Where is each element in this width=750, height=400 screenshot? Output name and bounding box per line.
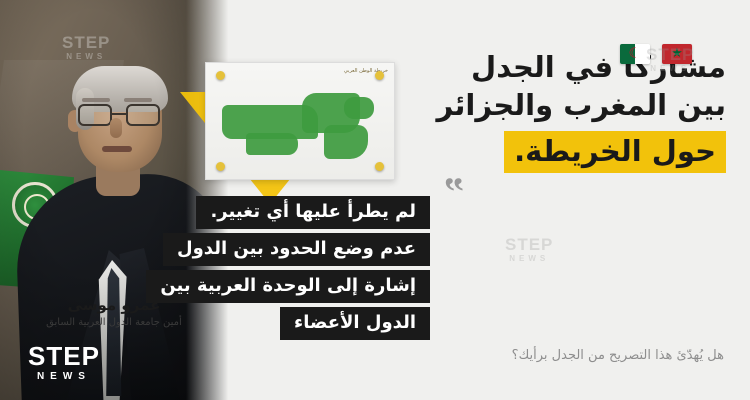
watermark-logo: STEP NEWS <box>646 46 694 73</box>
speaker-title: أمين جامعة الدول العربية السابق <box>14 317 214 328</box>
pushpin-icon <box>216 71 225 80</box>
watermark-brand: STEP <box>62 34 110 51</box>
map-landmass <box>324 125 368 159</box>
headline-line-2: بين المغرب والجزائر <box>366 86 726 124</box>
step-news-logo: STEP NEWS <box>28 343 100 382</box>
logo-sub: NEWS <box>28 372 100 382</box>
watermark-sub: NEWS <box>62 53 110 61</box>
quote-line: لم يطرأ عليها أي تغيير. <box>196 196 430 229</box>
map-landmass <box>246 133 298 155</box>
watermark-brand: STEP <box>646 46 694 63</box>
watermark-sub: NEWS <box>646 65 694 73</box>
quotation-mark-icon: ” <box>444 172 464 212</box>
headline-line-3: حول الخريطة. <box>504 131 726 173</box>
watermark-brand: STEP <box>505 236 553 253</box>
speaker-name: عمرو موسى <box>14 296 214 314</box>
image-canvas: خريطة الوطن العربي مشاركاً في الجدل بين … <box>0 0 750 400</box>
speaker-caption: عمرو موسى أمين جامعة الدول العربية الساب… <box>14 296 214 328</box>
engagement-question: هل يُهدّئ هذا التصريح من الجدل برأيك؟ <box>512 348 724 363</box>
logo-brand: STEP <box>28 343 100 369</box>
watermark-sub: NEWS <box>505 255 553 263</box>
quote-line: عدم وضع الحدود بين الدول <box>163 233 430 266</box>
watermark-logo: STEP NEWS <box>62 34 110 61</box>
pushpin-icon <box>216 162 225 171</box>
watermark-logo: STEP NEWS <box>505 236 553 263</box>
quote-line: الدول الأعضاء <box>280 307 430 340</box>
